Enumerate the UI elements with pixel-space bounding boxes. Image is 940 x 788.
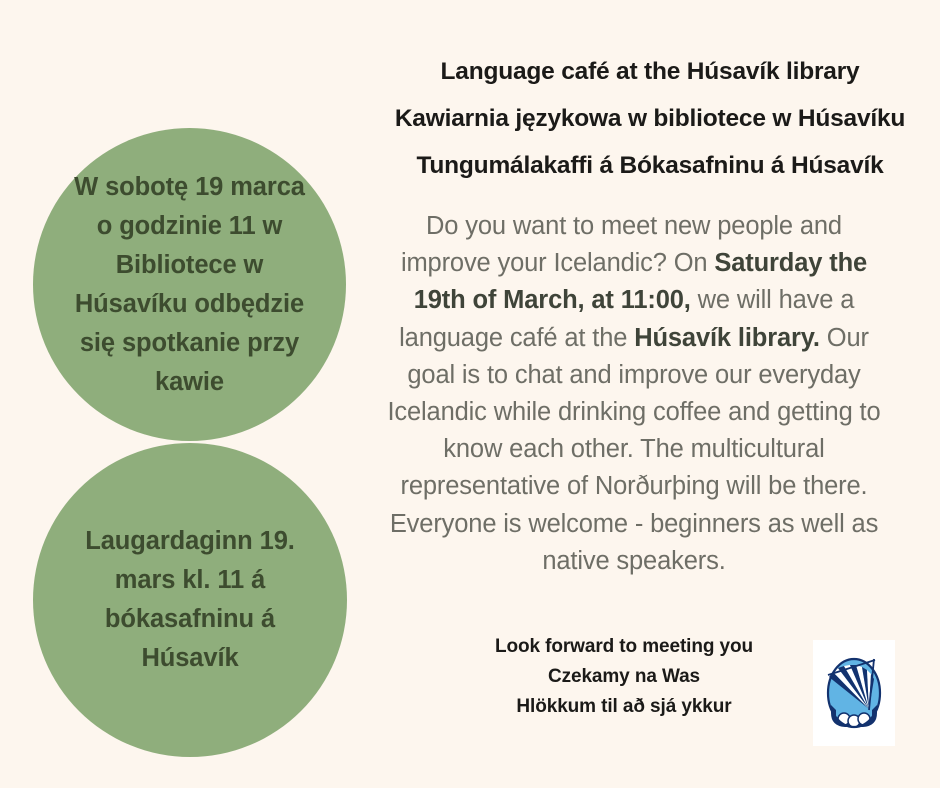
body-text-bold-venue: Húsavík library. — [634, 324, 820, 352]
closing-icelandic: Hlökkum til að sjá ykkur — [384, 692, 864, 722]
closing-english: Look forward to meeting you — [384, 632, 864, 662]
heading-english: Language café at the Húsavík library — [360, 48, 940, 95]
body-text-part-3: Our goal is to chat and improve our ever… — [387, 324, 880, 575]
nordurthing-coat-of-arms-icon — [819, 647, 889, 739]
logo-container — [813, 640, 895, 746]
heading-icelandic: Tungumálakaffi á Bókasafninu á Húsavík — [360, 142, 940, 189]
poster-canvas: W sobotę 19 marca o godzinie 11 w Biblio… — [0, 0, 940, 788]
heading-polish: Kawiarnia językowa w bibliotece w Húsaví… — [360, 95, 940, 142]
info-circle-icelandic-text: Laugardaginn 19. mars kl. 11 á bókasafni… — [65, 522, 315, 678]
info-circle-polish: W sobotę 19 marca o godzinie 11 w Biblio… — [33, 128, 346, 441]
body-paragraph: Do you want to meet new people and impro… — [384, 208, 884, 580]
closing-polish: Czekamy na Was — [384, 662, 864, 692]
closing-block: Look forward to meeting you Czekamy na W… — [384, 632, 864, 722]
info-circle-icelandic: Laugardaginn 19. mars kl. 11 á bókasafni… — [33, 443, 347, 757]
headings-block: Language café at the Húsavík library Kaw… — [360, 48, 940, 189]
info-circle-polish-text: W sobotę 19 marca o godzinie 11 w Biblio… — [65, 168, 315, 402]
